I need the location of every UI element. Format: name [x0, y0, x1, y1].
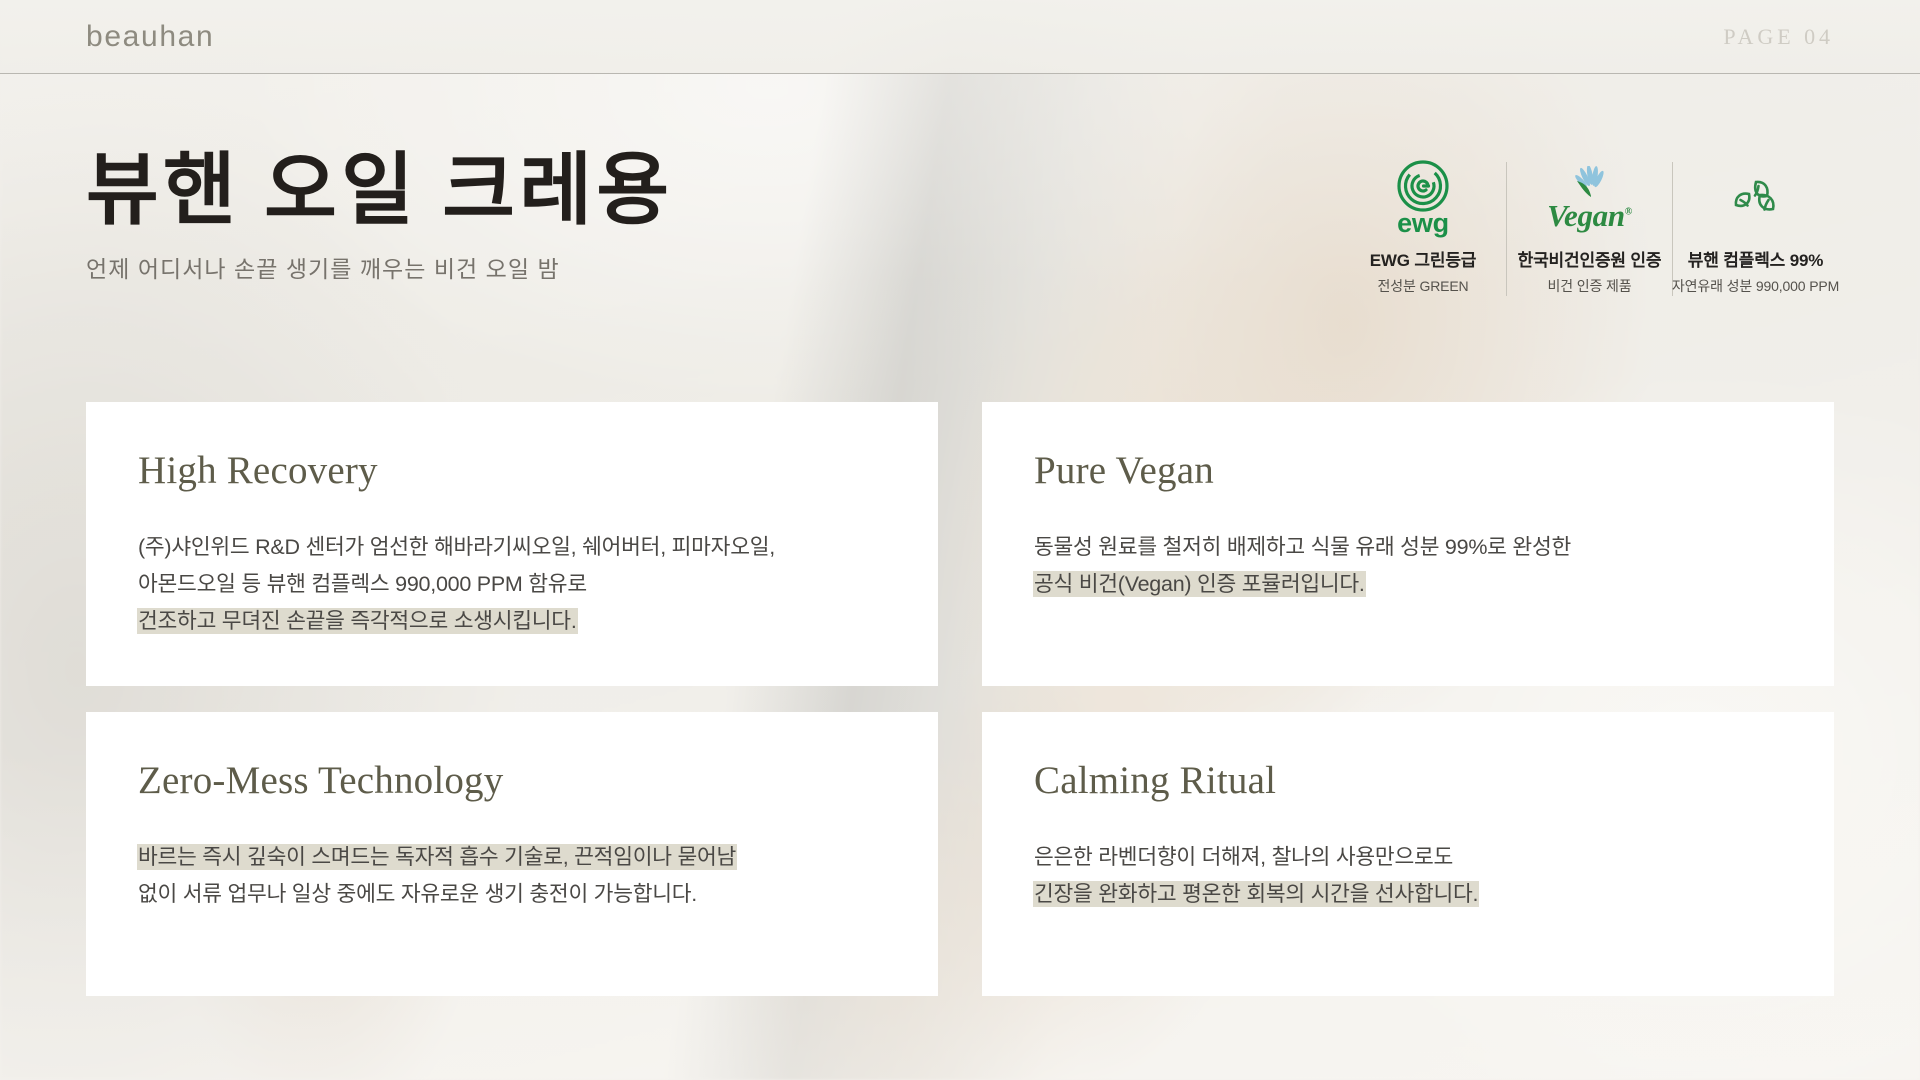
badge-subtitle: 전성분 GREEN [1377, 276, 1468, 296]
vegan-flower-icon: Vegan® [1547, 162, 1632, 234]
vegan-wordmark: Vegan® [1547, 200, 1632, 231]
card-body-line: 동물성 원료를 철저히 배제하고 식물 유래 성분 99%로 완성한 [1034, 529, 1782, 566]
card-body-line: 은은한 라벤더향이 더해져, 찰나의 사용만으로도 [1034, 839, 1782, 876]
badge-subtitle: 자연유래 성분 990,000 PPM [1672, 276, 1839, 296]
ewg-wordmark: ewg [1397, 210, 1449, 237]
feature-card-high-recovery: High Recovery (주)샤인위드 R&D 센터가 엄선한 해바라기씨오… [86, 402, 938, 686]
certification-badges: ewg EWG 그린등급 전성분 GREEN [1340, 162, 1838, 296]
card-body-line: 없이 서류 업무나 일상 중에도 자유로운 생기 충전이 가능합니다. [138, 876, 886, 913]
badge-ewg: ewg EWG 그린등급 전성분 GREEN [1340, 162, 1506, 296]
badge-title: EWG 그린등급 [1370, 246, 1477, 271]
feature-card-pure-vegan: Pure Vegan 동물성 원료를 철저히 배제하고 식물 유래 성분 99%… [982, 402, 1834, 686]
feature-card-grid: High Recovery (주)샤인위드 R&D 센터가 엄선한 해바라기씨오… [86, 402, 1834, 996]
card-title: Calming Ritual [1034, 760, 1782, 803]
brand-logo: beauhan [86, 20, 214, 54]
three-leaves-icon [1720, 162, 1792, 234]
page-subtitle: 언제 어디서나 손끝 생기를 깨우는 비건 오일 밤 [86, 250, 673, 284]
badge-complex: 뷰핸 컴플렉스 99% 자연유래 성분 990,000 PPM [1672, 162, 1838, 296]
title-block: 뷰핸 오일 크레용 언제 어디서나 손끝 생기를 깨우는 비건 오일 밤 [86, 148, 673, 284]
page-title: 뷰핸 오일 크레용 [86, 148, 673, 236]
page-number: PAGE 04 [1723, 24, 1834, 50]
card-title: Pure Vegan [1034, 450, 1782, 493]
slide-root: beauhan PAGE 04 뷰핸 오일 크레용 언제 어디서나 손끝 생기를… [0, 0, 1920, 1080]
card-body-line: 아몬드오일 등 뷰핸 컴플렉스 990,000 PPM 함유로 [138, 566, 886, 603]
card-body: (주)샤인위드 R&D 센터가 엄선한 해바라기씨오일, 쉐어버터, 피마자오일… [138, 529, 886, 640]
card-body-line: 긴장을 완화하고 평온한 회복의 시간을 선사합니다. [1034, 876, 1782, 913]
card-body-line: 공식 비건(Vegan) 인증 포뮬러입니다. [1034, 566, 1782, 603]
card-body: 동물성 원료를 철저히 배제하고 식물 유래 성분 99%로 완성한 공식 비건… [1034, 529, 1782, 603]
ewg-green-seal-icon: ewg [1397, 162, 1449, 234]
card-title: Zero-Mess Technology [138, 760, 886, 803]
feature-card-calming-ritual: Calming Ritual 은은한 라벤더향이 더해져, 찰나의 사용만으로도… [982, 712, 1834, 996]
card-body-line: 건조하고 무뎌진 손끝을 즉각적으로 소생시킵니다. [138, 603, 886, 640]
badge-title: 뷰핸 컴플렉스 99% [1688, 246, 1823, 271]
badge-subtitle: 비건 인증 제품 [1548, 276, 1632, 296]
card-body-line: (주)샤인위드 R&D 센터가 엄선한 해바라기씨오일, 쉐어버터, 피마자오일… [138, 529, 886, 566]
slide-header: beauhan PAGE 04 [0, 0, 1920, 74]
badge-vegan: Vegan® 한국비건인증원 인증 비건 인증 제품 [1506, 162, 1672, 296]
card-body: 바르는 즉시 깊숙이 스며드는 독자적 흡수 기술로, 끈적임이나 묻어남 없이… [138, 839, 886, 913]
feature-card-zero-mess-technology: Zero-Mess Technology 바르는 즉시 깊숙이 스며드는 독자적… [86, 712, 938, 996]
badge-title: 한국비건인증원 인증 [1518, 246, 1662, 271]
card-title: High Recovery [138, 450, 886, 493]
card-body: 은은한 라벤더향이 더해져, 찰나의 사용만으로도 긴장을 완화하고 평온한 회… [1034, 839, 1782, 913]
card-body-line: 바르는 즉시 깊숙이 스며드는 독자적 흡수 기술로, 끈적임이나 묻어남 [138, 839, 886, 876]
